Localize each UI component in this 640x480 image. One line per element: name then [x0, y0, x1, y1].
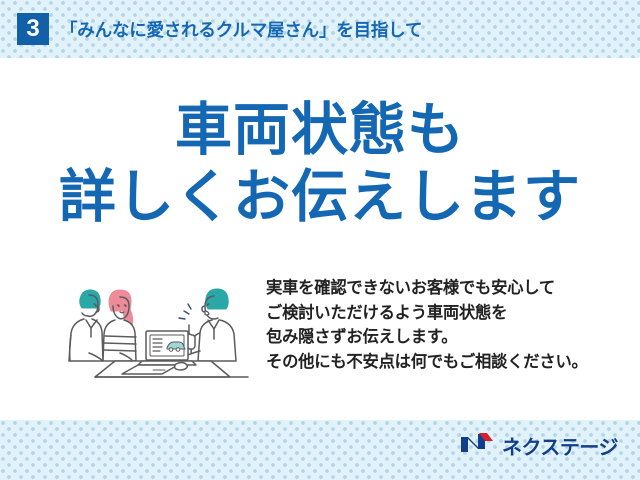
- lower-section: 実車を確認できないお客様でも安心して ご検討いただけるよう車両状態を 包み隠さず…: [0, 273, 640, 418]
- nextage-n-logo-icon: [459, 431, 495, 460]
- promo-poster: 3 「みんなに愛されるクルマ屋さん」を目指して 車両状態も 詳しくお伝えします: [0, 0, 640, 480]
- content-card: 車両状態も 詳しくお伝えします: [0, 58, 640, 420]
- brand-lockup: ネクステージ: [459, 431, 618, 460]
- step-number-badge: 3: [17, 13, 49, 45]
- paragraph-line-3: 包み隠さずお伝えします。: [266, 325, 628, 350]
- poster-header: 3 「みんなに愛されるクルマ屋さん」を目指して: [0, 0, 640, 58]
- consultation-illustration: [58, 273, 254, 388]
- paragraph-line-2: ご検討いただけるよう車両状態を: [266, 301, 628, 326]
- headline-line-2: 詳しくお伝えします: [0, 167, 640, 228]
- headline: 車両状態も 詳しくお伝えします: [0, 100, 640, 228]
- paragraph-line-4: その他にも不安点は何でもご相談ください。: [266, 350, 628, 375]
- headline-line-1: 車両状態も: [0, 100, 640, 161]
- poster-footer: ネクステージ: [0, 420, 640, 480]
- header-title: 「みんなに愛されるクルマ屋さん」を目指して: [60, 17, 422, 42]
- brand-name: ネクステージ: [502, 431, 618, 460]
- paragraph-line-1: 実車を確認できないお客様でも安心して: [266, 276, 628, 301]
- description-paragraph: 実車を確認できないお客様でも安心して ご検討いただけるよう車両状態を 包み隠さず…: [266, 276, 628, 374]
